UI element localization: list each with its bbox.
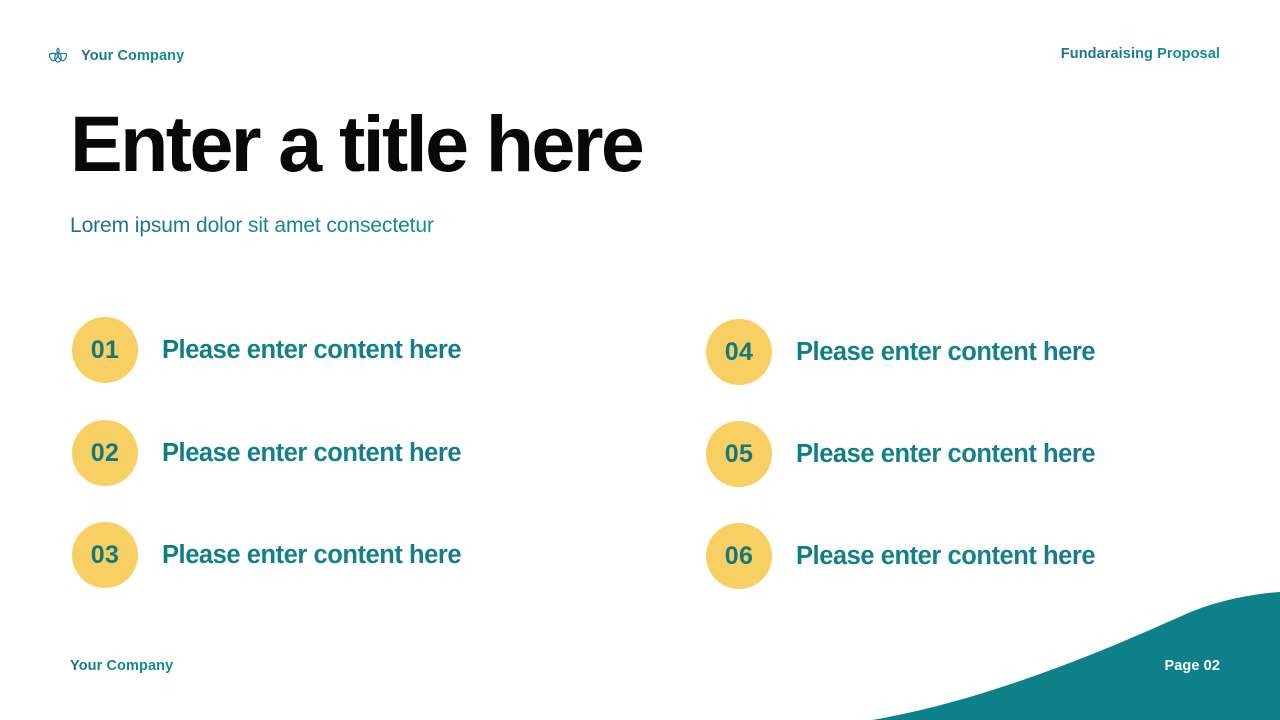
brand: Your Company	[46, 44, 184, 68]
slide-header: Your Company Fundaraising Proposal	[0, 0, 1280, 96]
item-number-badge: 04	[706, 319, 772, 385]
brand-name: Your Company	[81, 48, 184, 64]
list-item[interactable]: 04 Please enter content here	[706, 319, 1095, 385]
slide: Your Company Fundaraising Proposal Enter…	[0, 0, 1280, 720]
page-subtitle: Lorem ipsum dolor sit amet consectetur	[70, 212, 434, 240]
item-number-badge: 03	[72, 522, 138, 588]
list-item[interactable]: 03 Please enter content here	[72, 522, 461, 588]
item-number-badge: 02	[72, 420, 138, 486]
item-label: Please enter content here	[162, 336, 461, 365]
list-item[interactable]: 02 Please enter content here	[72, 420, 461, 486]
item-number-badge: 01	[72, 317, 138, 383]
lotus-flower-icon	[46, 44, 70, 68]
item-label: Please enter content here	[796, 338, 1095, 367]
footer-brand-name: Your Company	[70, 658, 173, 674]
item-label: Please enter content here	[162, 439, 461, 468]
item-label: Please enter content here	[162, 541, 461, 570]
item-number-badge: 05	[706, 421, 772, 487]
item-label: Please enter content here	[796, 440, 1095, 469]
item-label: Please enter content here	[796, 542, 1095, 571]
item-number-badge: 06	[706, 523, 772, 589]
list-item[interactable]: 05 Please enter content here	[706, 421, 1095, 487]
header-document-label: Fundaraising Proposal	[1061, 46, 1220, 62]
list-item[interactable]: 01 Please enter content here	[72, 317, 461, 383]
page-title: Enter a title here	[70, 104, 642, 183]
list-item[interactable]: 06 Please enter content here	[706, 523, 1095, 589]
page-number-label: Page 02	[1164, 658, 1220, 674]
